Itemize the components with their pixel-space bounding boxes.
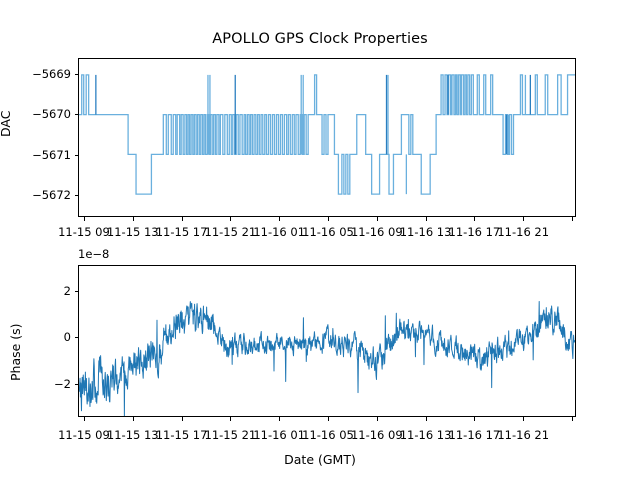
dac-x-ticklabel: 11-15 09 bbox=[58, 225, 110, 239]
phase-x-tick bbox=[84, 417, 85, 421]
phase-x-ticklabel: 11-16 17 bbox=[449, 428, 501, 442]
dac-x-tick bbox=[426, 217, 427, 221]
dac-y-tick bbox=[75, 74, 79, 75]
phase-y-axis-label: Phase (s) bbox=[8, 323, 23, 381]
phase-y-tick bbox=[75, 337, 79, 338]
phase-x-tick bbox=[182, 417, 183, 421]
phase-x-tick bbox=[426, 417, 427, 421]
matplotlib-figure: APOLLO GPS Clock Properties −5669−5670−5… bbox=[0, 0, 640, 480]
phase-x-ticklabel: 11-16 05 bbox=[302, 428, 354, 442]
dac-x-ticklabel: 11-16 01 bbox=[253, 225, 305, 239]
dac-x-tick bbox=[572, 217, 573, 221]
dac-y-tick bbox=[75, 155, 79, 156]
dac-x-tick bbox=[84, 217, 85, 221]
dac-x-ticklabel: 11-16 21 bbox=[497, 225, 549, 239]
phase-x-tick bbox=[328, 417, 329, 421]
dac-y-tick bbox=[75, 195, 79, 196]
dac-x-ticklabel: 11-15 13 bbox=[107, 225, 159, 239]
dac-x-ticklabel: 11-16 13 bbox=[400, 225, 452, 239]
dac-step-series bbox=[79, 59, 575, 216]
phase-y-ticklabel: 2 bbox=[0, 284, 71, 298]
dac-x-tick bbox=[230, 217, 231, 221]
dac-y-tick bbox=[75, 114, 79, 115]
dac-x-tick bbox=[182, 217, 183, 221]
dac-x-ticklabel: 11-16 05 bbox=[302, 225, 354, 239]
phase-y-tick bbox=[75, 291, 79, 292]
figure-title: APOLLO GPS Clock Properties bbox=[0, 31, 640, 47]
phase-x-tick bbox=[474, 417, 475, 421]
dac-x-ticklabel: 11-15 21 bbox=[205, 225, 257, 239]
phase-x-tick bbox=[377, 417, 378, 421]
phase-x-tick bbox=[523, 417, 524, 421]
dac-y-ticklabel: −5671 bbox=[0, 148, 71, 162]
phase-y-offset-text: 1e−8 bbox=[78, 247, 109, 261]
dac-plot-area bbox=[78, 58, 576, 217]
dac-x-tick bbox=[474, 217, 475, 221]
dac-x-tick bbox=[133, 217, 134, 221]
phase-x-ticklabel: 11-16 09 bbox=[351, 428, 403, 442]
phase-x-ticklabel: 11-16 21 bbox=[497, 428, 549, 442]
dac-x-tick bbox=[328, 217, 329, 221]
phase-x-ticklabel: 11-15 13 bbox=[107, 428, 159, 442]
phase-plot-area bbox=[78, 265, 576, 417]
dac-y-axis-label: DAC bbox=[0, 111, 13, 137]
dac-x-ticklabel: 11-15 17 bbox=[156, 225, 208, 239]
phase-x-tick bbox=[572, 417, 573, 421]
phase-x-tick bbox=[230, 417, 231, 421]
dac-x-tick bbox=[523, 217, 524, 221]
phase-x-ticklabel: 11-16 01 bbox=[253, 428, 305, 442]
dac-y-ticklabel: −5672 bbox=[0, 188, 71, 202]
phase-x-ticklabel: 11-16 13 bbox=[400, 428, 452, 442]
phase-x-tick bbox=[279, 417, 280, 421]
dac-x-ticklabel: 11-16 09 bbox=[351, 225, 403, 239]
phase-x-axis-label: Date (GMT) bbox=[0, 452, 640, 467]
phase-x-ticklabel: 11-15 17 bbox=[156, 428, 208, 442]
dac-x-ticklabel: 11-16 17 bbox=[449, 225, 501, 239]
dac-y-ticklabel: −5669 bbox=[0, 67, 71, 81]
dac-x-tick bbox=[279, 217, 280, 221]
dac-x-tick bbox=[377, 217, 378, 221]
phase-y-tick bbox=[75, 384, 79, 385]
phase-x-ticklabel: 11-15 09 bbox=[58, 428, 110, 442]
phase-x-tick bbox=[133, 417, 134, 421]
phase-x-ticklabel: 11-15 21 bbox=[205, 428, 257, 442]
phase-noise-series bbox=[79, 266, 575, 416]
